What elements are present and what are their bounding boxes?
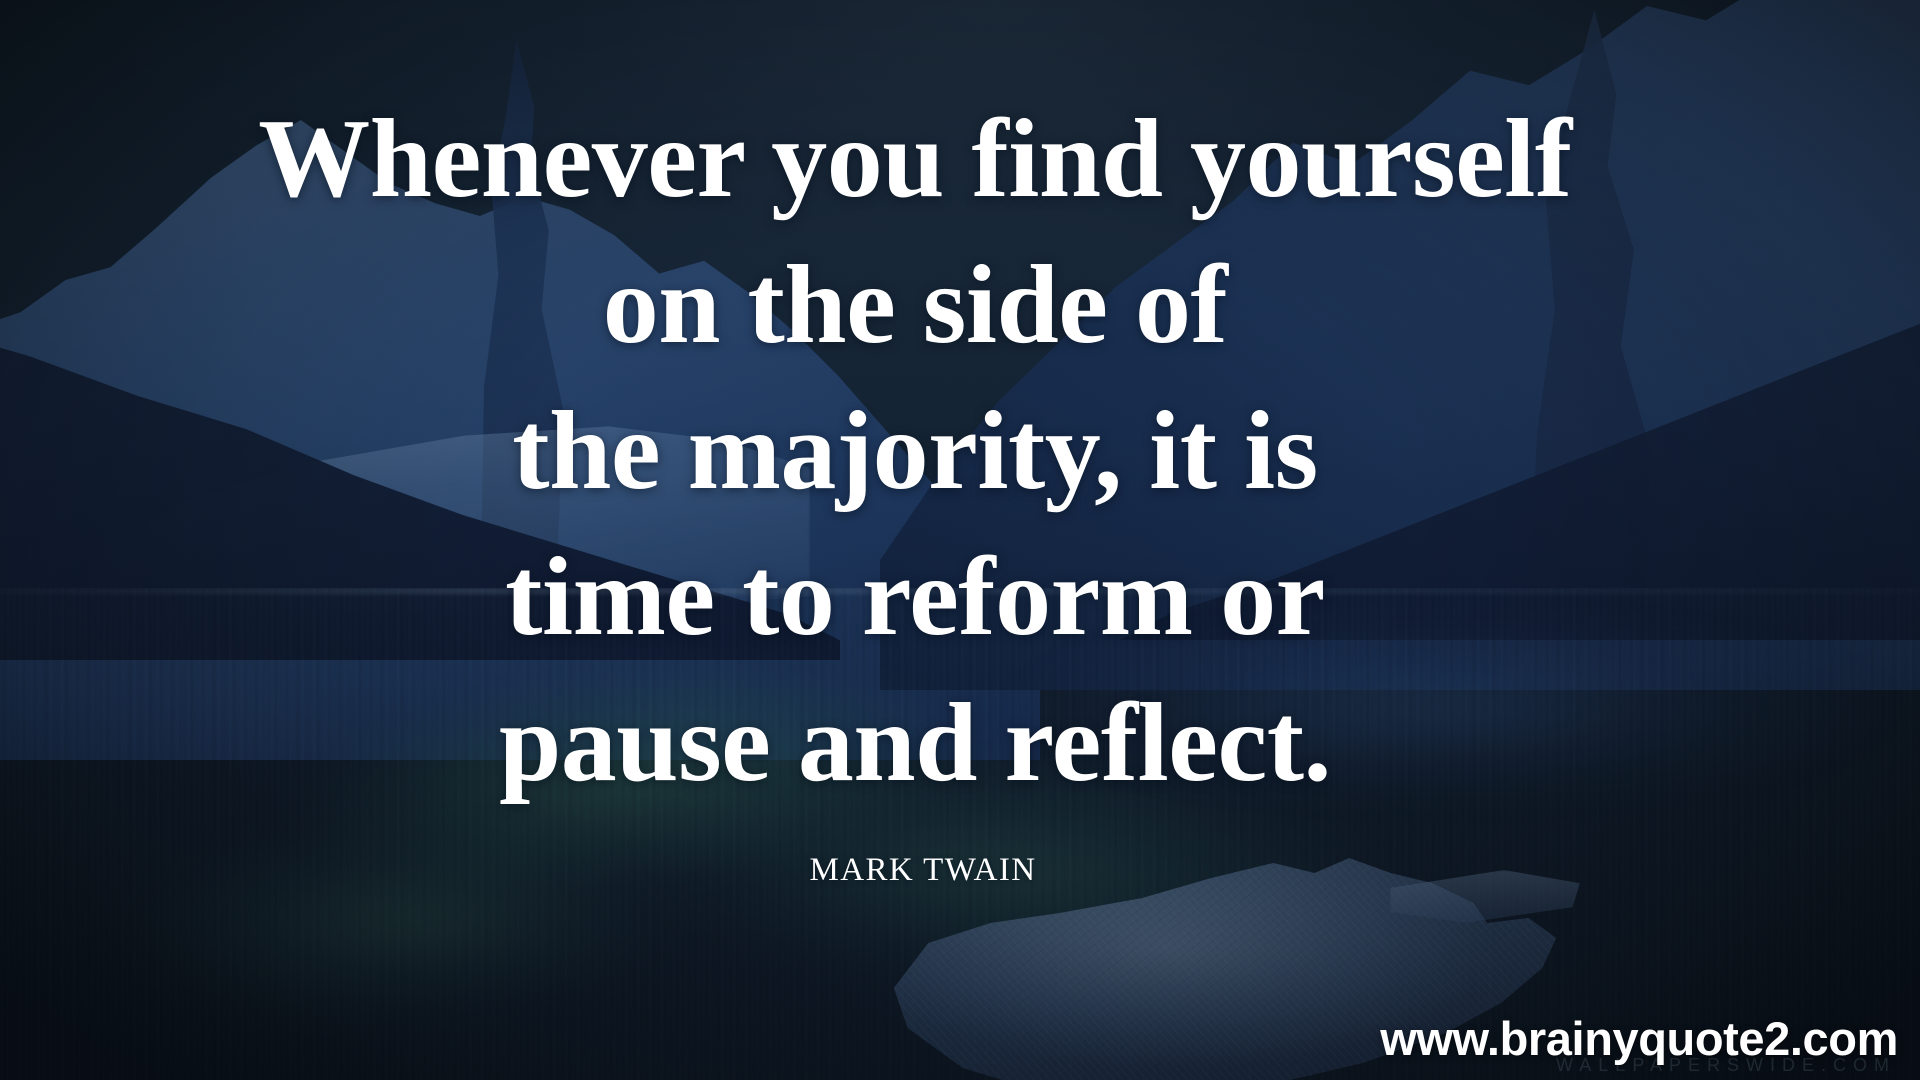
quote-line-3: the majority, it is	[0, 378, 1830, 524]
quote-line-5: pause and reflect.	[0, 670, 1830, 816]
quote-author: MARK TWAIN	[0, 852, 1846, 889]
quote-line-4: time to reform or	[0, 524, 1830, 670]
content-layer: Whenever you find yourself on the side o…	[0, 0, 1920, 1080]
quote-line-1: Whenever you find yourself	[0, 86, 1830, 232]
quote-line-2: on the side of	[0, 232, 1830, 378]
site-watermark: www.brainyquote2.com	[1380, 1011, 1898, 1066]
quote-wallpaper: Whenever you find yourself on the side o…	[0, 0, 1920, 1080]
quote-text: Whenever you find yourself on the side o…	[0, 86, 1830, 816]
